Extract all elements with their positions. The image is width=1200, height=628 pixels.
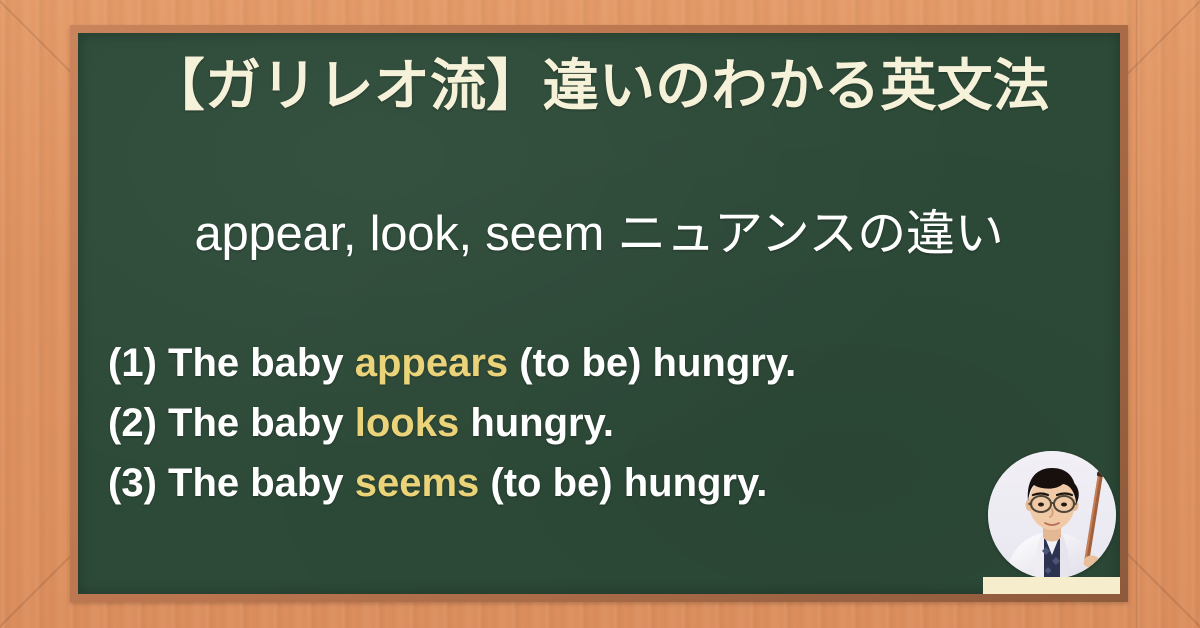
- frame-plank-seam: [1135, 0, 1140, 628]
- example-sentence-1: (1) The baby appears (to be) hungry.: [108, 333, 1090, 393]
- avatar-portrait-icon: [988, 451, 1116, 579]
- example-text-after-1: (to be) hungry.: [508, 341, 796, 385]
- blackboard-card: 【ガリレオ流】違いのわかる英文法 appear, look, seem ニュアン…: [0, 0, 1200, 628]
- example-sentence-list: (1) The baby appears (to be) hungry. (2)…: [108, 333, 1090, 513]
- example-number-3: (3): [108, 461, 157, 505]
- example-number-1: (1): [108, 341, 157, 385]
- blackboard-bevel: 【ガリレオ流】違いのわかる英文法 appear, look, seem ニュアン…: [70, 25, 1128, 602]
- example-text-before-1: The baby: [168, 341, 355, 385]
- example-keyword-1: appears: [355, 341, 508, 385]
- example-text-before-2: The baby: [168, 401, 355, 445]
- page-subtitle: appear, look, seem ニュアンスの違い: [78, 208, 1120, 262]
- example-text-after-3: (to be) hungry.: [479, 461, 767, 505]
- blackboard-surface: 【ガリレオ流】違いのわかる英文法 appear, look, seem ニュアン…: [78, 33, 1120, 594]
- example-text-before-3: The baby: [168, 461, 355, 505]
- example-sentence-2: (2) The baby looks hungry.: [108, 393, 1090, 453]
- example-keyword-3: seems: [355, 461, 480, 505]
- chalk-tray-bar: [983, 577, 1120, 594]
- example-keyword-2: looks: [355, 401, 459, 445]
- example-number-2: (2): [108, 401, 157, 445]
- example-sentence-3: (3) The baby seems (to be) hungry.: [108, 453, 1090, 513]
- instructor-avatar: [988, 451, 1116, 579]
- page-title: 【ガリレオ流】違いのわかる英文法: [78, 58, 1120, 117]
- example-text-after-2: hungry.: [459, 401, 614, 445]
